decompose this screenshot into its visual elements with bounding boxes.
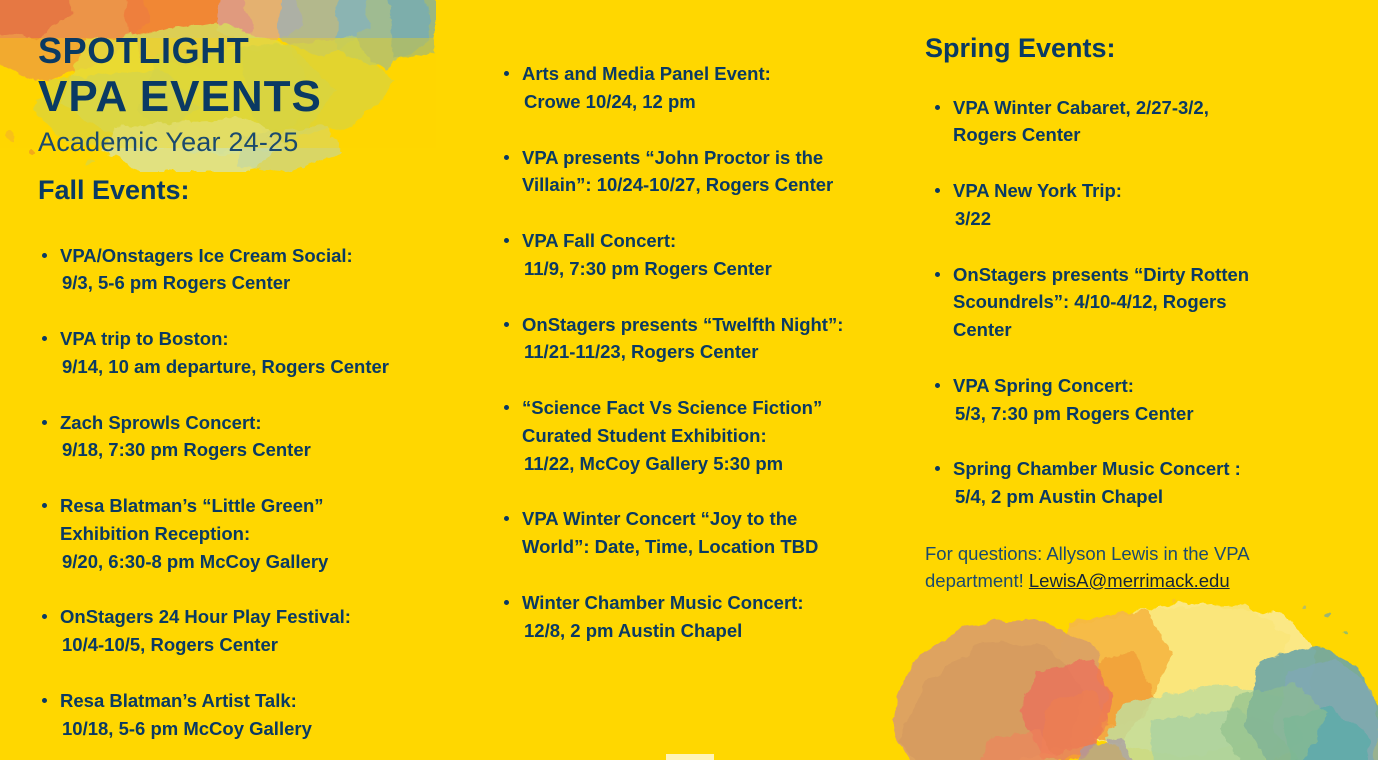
event-detail: 5/3, 7:30 pm Rogers Center: [953, 400, 1325, 428]
list-item: VPA New York Trip: 3/22: [925, 177, 1325, 233]
bullet-icon: [42, 420, 47, 425]
event-name: VPA Fall Concert:: [522, 227, 898, 255]
watercolor-splash-bottom-right: [884, 588, 1378, 760]
event-name: Zach Sprowls Concert:: [60, 409, 468, 437]
event-name-cont: Curated Student Exhibition:: [522, 422, 898, 450]
bullet-icon: [42, 614, 47, 619]
bullet-icon: [42, 503, 47, 508]
event-name-cont: Scoundrels”: 4/10-4/12, Rogers: [953, 288, 1325, 316]
section-title-fall: Fall Events:: [38, 176, 468, 206]
event-detail: 9/20, 6:30-8 pm McCoy Gallery: [60, 548, 468, 576]
bullet-icon: [42, 336, 47, 341]
list-item: Arts and Media Panel Event: Crowe 10/24,…: [498, 60, 898, 116]
list-item: Zach Sprowls Concert: 9/18, 7:30 pm Roge…: [38, 409, 468, 465]
headline-subtitle-academic-year: Academic Year 24-25: [38, 129, 458, 156]
event-detail: 5/4, 2 pm Austin Chapel: [953, 483, 1325, 511]
event-detail: 10/18, 5-6 pm McCoy Gallery: [60, 715, 468, 743]
event-name: Resa Blatman’s “Little Green”: [60, 492, 468, 520]
event-detail: 11/21-11/23, Rogers Center: [522, 338, 898, 366]
event-name: OnStagers presents “Dirty Rotten: [953, 261, 1325, 289]
list-item: “Science Fact Vs Science Fiction” Curate…: [498, 394, 898, 477]
event-detail: 9/18, 7:30 pm Rogers Center: [60, 436, 468, 464]
event-name-cont: World”: Date, Time, Location TBD: [522, 533, 898, 561]
column-fall-events: Fall Events: VPA/Onstagers Ice Cream Soc…: [38, 176, 468, 742]
event-name: “Science Fact Vs Science Fiction”: [522, 394, 898, 422]
headline-line-vpa-events: VPA EVENTS: [38, 75, 458, 119]
bottom-edge-artifact: [666, 754, 714, 760]
list-item: Winter Chamber Music Concert: 12/8, 2 pm…: [498, 589, 898, 645]
list-item: Spring Chamber Music Concert : 5/4, 2 pm…: [925, 455, 1325, 511]
bullet-icon: [935, 466, 940, 471]
event-name: VPA presents “John Proctor is the: [522, 144, 898, 172]
event-detail: 11/22, McCoy Gallery 5:30 pm: [522, 450, 898, 478]
list-item: VPA presents “John Proctor is the Villai…: [498, 144, 898, 200]
event-name: VPA Winter Concert “Joy to the: [522, 505, 898, 533]
fall-events-list: VPA/Onstagers Ice Cream Social: 9/3, 5-6…: [38, 242, 468, 743]
column-fall-events-continued: Arts and Media Panel Event: Crowe 10/24,…: [498, 60, 898, 644]
poster-headline: SPOTLIGHT VPA EVENTS Academic Year 24-25: [38, 33, 458, 156]
list-item: OnStagers presents “Twelfth Night”: 11/2…: [498, 311, 898, 367]
event-name: Resa Blatman’s Artist Talk:: [60, 687, 468, 715]
event-name: OnStagers presents “Twelfth Night”:: [522, 311, 898, 339]
event-name-cont: Rogers Center: [953, 121, 1325, 149]
column-spring-events: Spring Events: VPA Winter Cabaret, 2/27-…: [925, 34, 1325, 595]
contact-block: For questions: Allyson Lewis in the VPA …: [925, 541, 1325, 595]
bullet-icon: [504, 405, 509, 410]
bullet-icon: [504, 322, 509, 327]
event-name: Winter Chamber Music Concert:: [522, 589, 898, 617]
event-detail: 9/3, 5-6 pm Rogers Center: [60, 269, 468, 297]
event-detail: 12/8, 2 pm Austin Chapel: [522, 617, 898, 645]
list-item: VPA Spring Concert: 5/3, 7:30 pm Rogers …: [925, 372, 1325, 428]
list-item: VPA Fall Concert: 11/9, 7:30 pm Rogers C…: [498, 227, 898, 283]
section-title-spring: Spring Events:: [925, 34, 1325, 64]
bullet-icon: [504, 71, 509, 76]
event-detail: Crowe 10/24, 12 pm: [522, 88, 898, 116]
list-item: OnStagers 24 Hour Play Festival: 10/4-10…: [38, 603, 468, 659]
list-item: Resa Blatman’s “Little Green” Exhibition…: [38, 492, 468, 575]
headline-line-spotlight: SPOTLIGHT: [38, 33, 458, 69]
bullet-icon: [935, 383, 940, 388]
event-name: VPA trip to Boston:: [60, 325, 468, 353]
event-name: VPA Winter Cabaret, 2/27-3/2,: [953, 94, 1325, 122]
event-name-cont: Exhibition Reception:: [60, 520, 468, 548]
bullet-icon: [42, 698, 47, 703]
event-detail: 10/4-10/5, Rogers Center: [60, 631, 468, 659]
poster-canvas: SPOTLIGHT VPA EVENTS Academic Year 24-25…: [0, 0, 1378, 760]
list-item: VPA/Onstagers Ice Cream Social: 9/3, 5-6…: [38, 242, 468, 298]
bullet-icon: [935, 272, 940, 277]
event-name: VPA/Onstagers Ice Cream Social:: [60, 242, 468, 270]
bullet-icon: [504, 516, 509, 521]
list-item: VPA Winter Concert “Joy to the World”: D…: [498, 505, 898, 561]
event-name: Spring Chamber Music Concert :: [953, 455, 1325, 483]
event-name-cont-2: Center: [953, 316, 1325, 344]
contact-line-1: For questions: Allyson Lewis in the VPA: [925, 543, 1249, 564]
bullet-icon: [504, 155, 509, 160]
list-item: VPA trip to Boston: 9/14, 10 am departur…: [38, 325, 468, 381]
list-item: Resa Blatman’s Artist Talk: 10/18, 5-6 p…: [38, 687, 468, 743]
bullet-icon: [935, 188, 940, 193]
event-name: VPA New York Trip:: [953, 177, 1325, 205]
event-detail: 11/9, 7:30 pm Rogers Center: [522, 255, 898, 283]
fall-events-continued-list: Arts and Media Panel Event: Crowe 10/24,…: [498, 60, 898, 644]
bullet-icon: [504, 238, 509, 243]
bullet-icon: [42, 253, 47, 258]
event-name-cont: Villain”: 10/24-10/27, Rogers Center: [522, 171, 898, 199]
contact-line-2-prefix: department!: [925, 570, 1029, 591]
spring-events-list: VPA Winter Cabaret, 2/27-3/2, Rogers Cen…: [925, 94, 1325, 511]
list-item: VPA Winter Cabaret, 2/27-3/2, Rogers Cen…: [925, 94, 1325, 150]
bullet-icon: [935, 105, 940, 110]
event-name: Arts and Media Panel Event:: [522, 60, 898, 88]
event-name: VPA Spring Concert:: [953, 372, 1325, 400]
event-detail: 9/14, 10 am departure, Rogers Center: [60, 353, 468, 381]
contact-email-link[interactable]: LewisA@merrimack.edu: [1029, 570, 1230, 591]
event-detail: 3/22: [953, 205, 1325, 233]
list-item: OnStagers presents “Dirty Rotten Scoundr…: [925, 261, 1325, 344]
event-name: OnStagers 24 Hour Play Festival:: [60, 603, 468, 631]
bullet-icon: [504, 600, 509, 605]
